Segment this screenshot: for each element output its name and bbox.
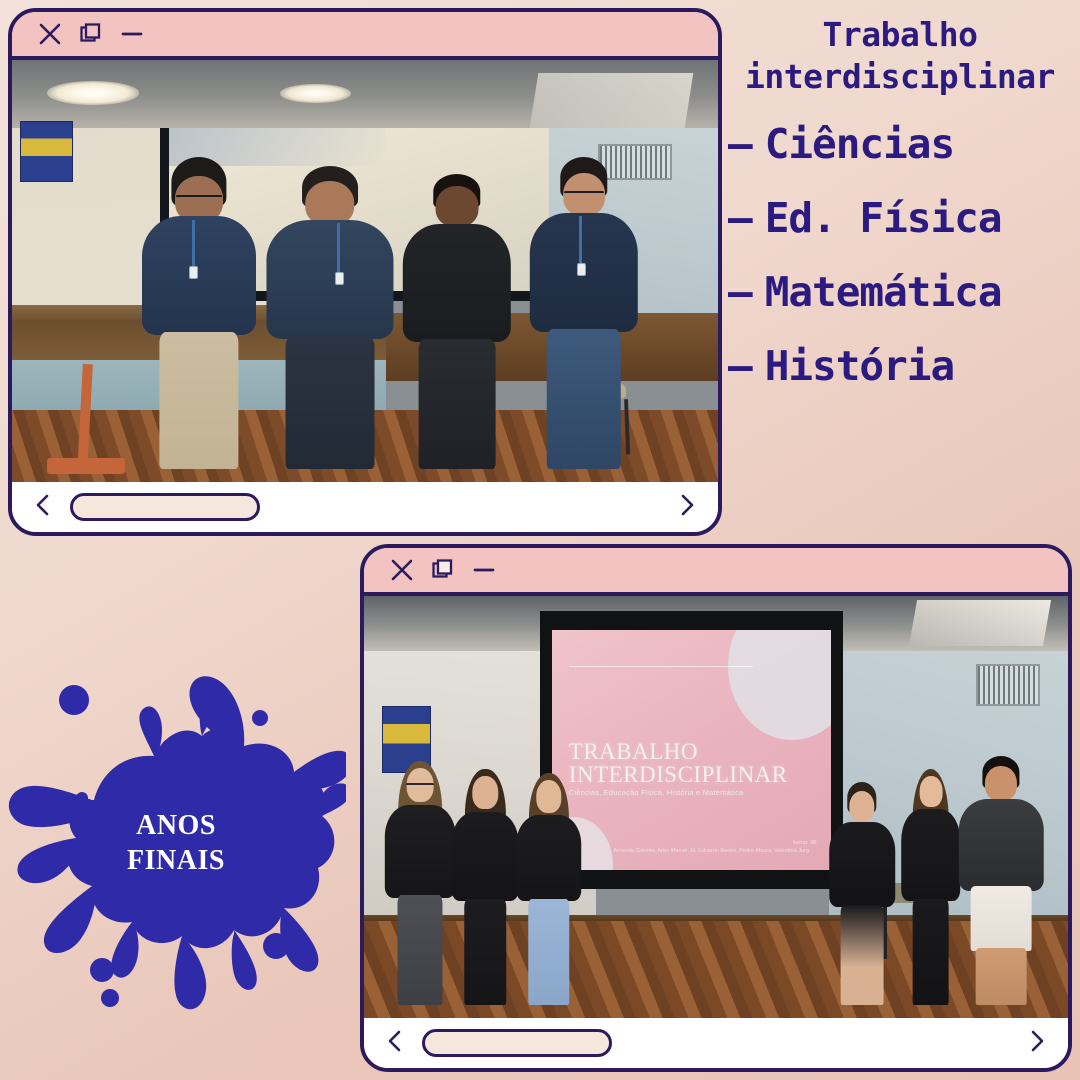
window-bottom-photo: TRABALHO INTERDISCIPLINAR Ciências, Educ… xyxy=(364,596,1068,1018)
subject-item-ed-fisica: – Ed. Física xyxy=(728,198,1074,239)
address-bar[interactable] xyxy=(422,1029,612,1057)
subject-label: História xyxy=(765,346,954,387)
window-top-navbar[interactable] xyxy=(12,482,718,532)
person-student-2 xyxy=(452,769,519,1005)
text-panel: Trabalho interdisciplinar – Ciências – E… xyxy=(726,14,1074,420)
photo-teachers xyxy=(12,60,718,482)
person-teacher-2 xyxy=(266,166,393,470)
chevron-right-icon[interactable] xyxy=(1024,1028,1050,1059)
chevron-left-icon[interactable] xyxy=(382,1028,408,1059)
easel xyxy=(47,364,125,474)
air-vent-icon xyxy=(976,664,1039,706)
subject-label: Matemática xyxy=(765,272,1002,313)
person-teacher-1 xyxy=(139,157,259,469)
slide-subtitle: Ciências, Educação Física, História e Ma… xyxy=(569,788,744,797)
window-bottom[interactable]: TRABALHO INTERDISCIPLINAR Ciências, Educ… xyxy=(360,544,1072,1072)
window-top-titlebar[interactable] xyxy=(12,12,718,60)
window-bottom-navbar[interactable] xyxy=(364,1018,1068,1068)
restore-icon[interactable] xyxy=(431,558,455,582)
bullet-dash-icon: – xyxy=(728,198,752,239)
close-icon[interactable] xyxy=(390,558,414,582)
person-student-1 xyxy=(385,761,455,1006)
chevron-left-icon[interactable] xyxy=(30,492,56,523)
person-teacher-3 xyxy=(400,174,513,469)
page-title: Trabalho interdisciplinar xyxy=(726,14,1074,98)
person-student-6 xyxy=(959,756,1043,1005)
projection-screen-frame: TRABALHO INTERDISCIPLINAR Ciências, Educ… xyxy=(540,611,843,890)
address-bar[interactable] xyxy=(70,493,260,521)
person-teacher-4 xyxy=(527,157,640,469)
window-top-photo xyxy=(12,60,718,482)
close-icon[interactable] xyxy=(38,22,62,46)
slide-class-label: turma: 9B xyxy=(793,840,817,846)
subject-list: – Ciências – Ed. Física – Matemática – H… xyxy=(726,124,1074,387)
ceiling-light-icon xyxy=(280,84,351,103)
slide-author-names: Amanda Cidreira, Artur Marcel, M. Eduard… xyxy=(613,847,809,856)
window-bottom-titlebar[interactable] xyxy=(364,548,1068,596)
person-student-3 xyxy=(515,773,582,1005)
poster-canvas: TRABALHO INTERDISCIPLINAR Ciências, Educ… xyxy=(0,0,1080,1080)
restore-icon[interactable] xyxy=(79,22,103,46)
bullet-dash-icon: – xyxy=(728,272,752,313)
person-student-5 xyxy=(899,769,962,1005)
subject-label: Ciências xyxy=(765,124,954,165)
wall-poster xyxy=(20,121,73,182)
ink-splat-icon xyxy=(6,650,346,1040)
photo-students: TRABALHO INTERDISCIPLINAR Ciências, Educ… xyxy=(364,596,1068,1018)
minimize-icon[interactable] xyxy=(472,558,496,582)
minimize-icon[interactable] xyxy=(120,22,144,46)
subject-item-matematica: – Matemática xyxy=(728,272,1074,313)
subject-item-ciencias: – Ciências xyxy=(728,124,1074,165)
chevron-right-icon[interactable] xyxy=(674,492,700,523)
anos-finais-badge: ANOS FINAIS xyxy=(6,650,346,1040)
subject-item-historia: – História xyxy=(728,346,1074,387)
window-top[interactable] xyxy=(8,8,722,536)
bullet-dash-icon: – xyxy=(728,346,752,387)
person-student-4 xyxy=(829,782,896,1006)
ceiling-light-icon xyxy=(47,81,139,105)
subject-label: Ed. Física xyxy=(765,198,1002,239)
presentation-slide: TRABALHO INTERDISCIPLINAR Ciências, Educ… xyxy=(552,630,831,870)
bullet-dash-icon: – xyxy=(728,124,752,165)
slide-title: TRABALHO INTERDISCIPLINAR xyxy=(569,740,788,786)
